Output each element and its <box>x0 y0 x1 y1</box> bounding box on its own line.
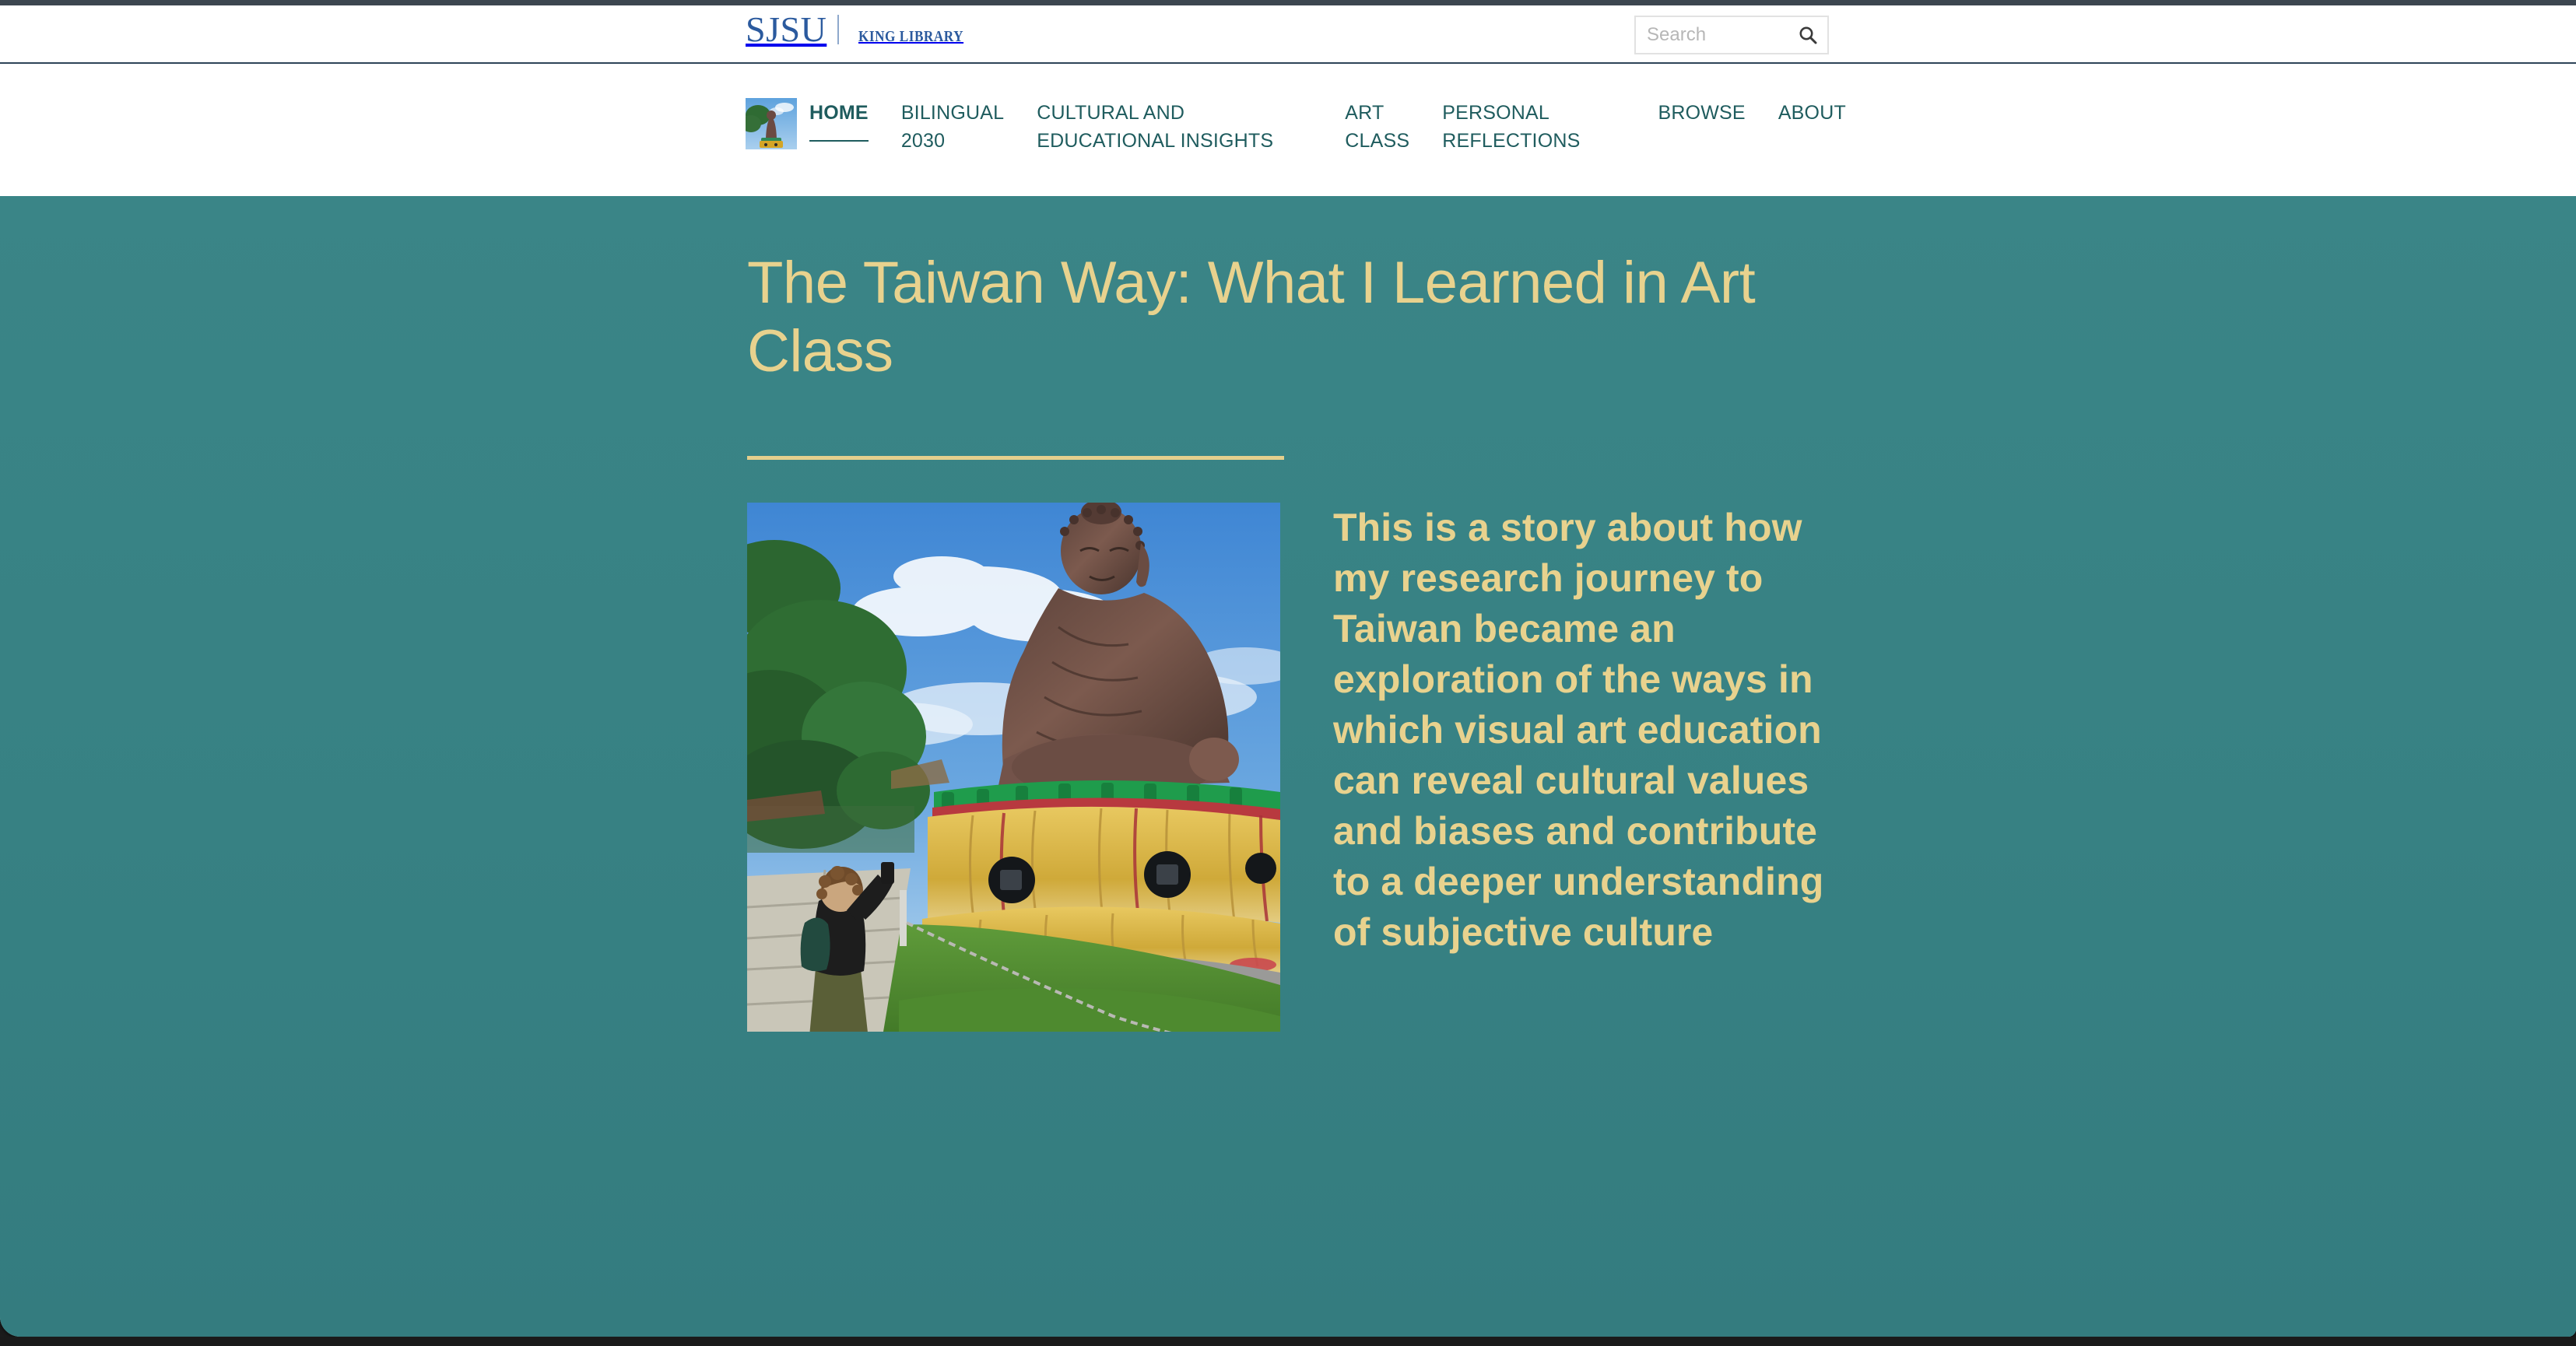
title-divider-rule <box>747 456 1284 460</box>
hero-lede-paragraph: This is a story about how my research jo… <box>1333 503 1831 958</box>
nav-item-browse[interactable]: BROWSE <box>1658 81 1745 128</box>
nav-item-art-class[interactable]: ART CLASS <box>1345 81 1409 155</box>
site-navigation: HOME BILINGUAL 2030 CULTURAL AND EDUCATI… <box>0 64 2576 196</box>
nav-item-about[interactable]: ABOUT <box>1778 81 1846 128</box>
browser-chrome-top-strip <box>0 0 2576 5</box>
sjsu-wordmark: SJSU <box>746 12 826 47</box>
nav-item-personal-reflections[interactable]: PERSONAL REFLECTIONS <box>1442 81 1580 155</box>
page-viewport: SJSU KING LIBRARY <box>0 5 2576 1337</box>
nav-item-bilingual-2030[interactable]: BILINGUAL 2030 <box>901 81 1004 155</box>
nav-item-home[interactable]: HOME <box>809 81 869 128</box>
search-icon[interactable] <box>1798 25 1818 45</box>
page-title: The Taiwan Way: What I Learned in Art Cl… <box>747 196 1837 386</box>
browser-chrome-bottom-strip <box>0 1337 2576 1346</box>
search-box[interactable] <box>1634 16 1829 54</box>
site-logo-thumbnail[interactable] <box>746 98 797 149</box>
sjsu-king-library-logo[interactable]: SJSU KING LIBRARY <box>746 12 972 47</box>
hero-body: This is a story about how my research jo… <box>747 503 1837 1032</box>
nav-item-cultural-and-educational-insights[interactable]: CULTURAL AND EDUCATIONAL INSIGHTS <box>1037 81 1273 155</box>
king-library-wordmark: KING LIBRARY <box>858 28 963 46</box>
search-input[interactable] <box>1647 24 1798 46</box>
nav-links: HOME BILINGUAL 2030 CULTURAL AND EDUCATI… <box>809 81 1846 155</box>
site-header: SJSU KING LIBRARY <box>0 5 2576 64</box>
logo-divider-bar <box>837 15 839 44</box>
hero-image <box>747 503 1280 1032</box>
hero-section: The Taiwan Way: What I Learned in Art Cl… <box>0 196 2576 1337</box>
